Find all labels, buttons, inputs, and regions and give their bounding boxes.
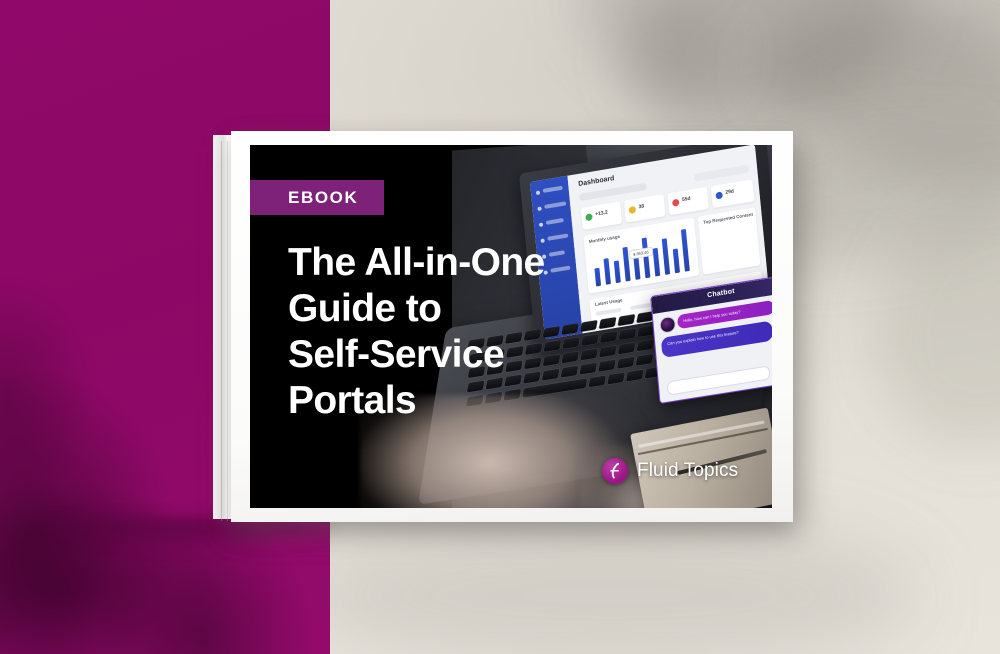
title-line: Self-Service	[288, 332, 608, 378]
cover-title: The All-in-One Guide to Self-Service Por…	[288, 240, 608, 424]
stat-card[interactable]: 55d	[667, 187, 709, 216]
bot-avatar	[659, 316, 676, 334]
stat-value: 38	[638, 203, 644, 210]
top-content-panel: Top Requested Content	[698, 207, 761, 274]
stat-value: +13.2	[595, 210, 608, 218]
stat-value: 55d	[682, 196, 691, 203]
brand-name: Fluid Topics	[637, 460, 738, 482]
stat-card[interactable]: 38	[624, 194, 666, 223]
dashboard-toolbar[interactable]	[694, 165, 750, 182]
page-line	[227, 141, 228, 521]
title-line: Portals	[288, 378, 608, 424]
chatbot-window[interactable]: Chatbot ✕ Hello, how can I help you toda…	[650, 274, 772, 404]
stat-value: 29d	[725, 188, 734, 195]
chat-message-text: Can you explain how to use this feature?	[667, 325, 766, 347]
title-line: The All-in-One	[288, 240, 608, 286]
scene: Dashboard +13.2 38 55d	[0, 0, 1000, 654]
chat-message-text: Hello, how can I help you today?	[683, 305, 768, 323]
ebook-badge: EBOOK	[250, 180, 384, 215]
dashboard-title: Dashboard	[578, 175, 615, 188]
fluid-topics-f-icon	[602, 458, 628, 484]
panel-label: Top Requested Content	[703, 212, 753, 225]
brand-lockup: Fluid Topics	[602, 458, 738, 484]
stat-card[interactable]: 29d	[711, 179, 755, 208]
title-line: Guide to	[288, 286, 608, 332]
ebook-cover: Dashboard +13.2 38 55d	[250, 145, 772, 508]
chart-tooltip: $ 853.46	[629, 247, 653, 260]
ebook-badge-label: EBOOK	[288, 188, 358, 208]
stat-card[interactable]: +13.2	[581, 201, 623, 230]
chat-bubble-user: Can you explain how to use this feature?	[661, 321, 772, 358]
page-line	[221, 141, 222, 521]
